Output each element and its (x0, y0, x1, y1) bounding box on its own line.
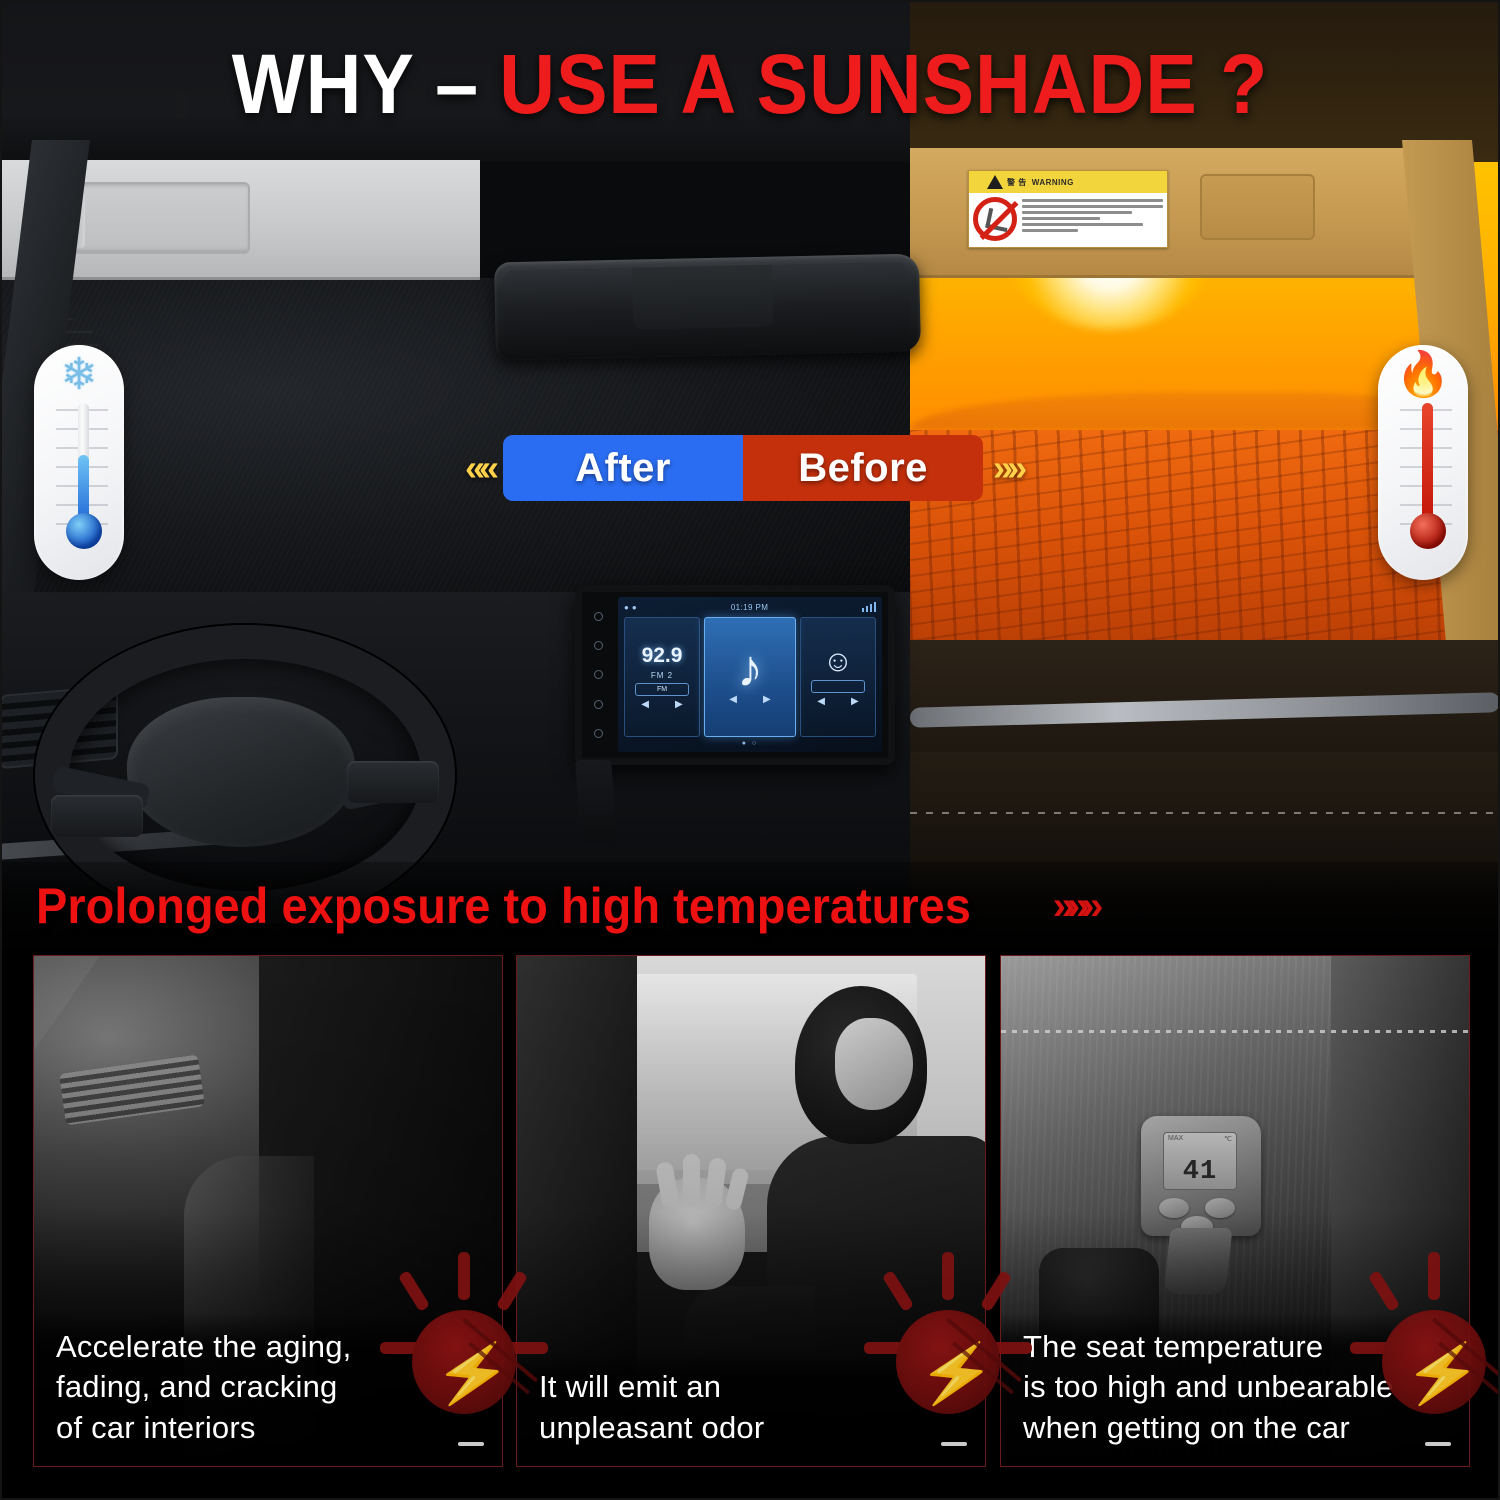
panel-caption: The seat temperature is too high and unb… (1001, 1313, 1469, 1466)
radio-frequency: 92.9 (642, 644, 683, 668)
caption-dash-icon (458, 1442, 484, 1446)
hot-thermometer: 🔥 (1378, 345, 1468, 580)
title-red-part: USE A SUNSHADE ? (499, 36, 1268, 133)
warning-triangle-icon (987, 175, 1003, 189)
caption-dash-icon (941, 1442, 967, 1446)
caption-line: is too high and unbearable (1023, 1367, 1453, 1407)
ivi-radio-card[interactable]: 92.9 FM 2 FM ◀ ▶ (624, 617, 700, 737)
panel-caption: It will emit an unpleasant odor (517, 1353, 985, 1466)
panel-caption: Accelerate the aging, fading, and cracki… (34, 1313, 502, 1466)
right-chevrons-icon: »» (983, 447, 1031, 489)
ivi-card-row: 92.9 FM 2 FM ◀ ▶ ♪ ◀ ▶ (624, 617, 876, 737)
warning-text-lines (1022, 197, 1163, 241)
visor-pocket (1200, 174, 1315, 240)
media-prev-icon[interactable]: ◀ (729, 694, 737, 705)
mirror-camera-pod (632, 265, 773, 330)
warning-cjk: 警 告 (1007, 177, 1027, 188)
hot-sun-visor: 警 告 WARNING (910, 148, 1450, 278)
ivi-side-buttons[interactable] (581, 602, 615, 748)
radio-seek-arrows[interactable]: ◀ ▶ (641, 699, 682, 710)
title-white-part: WHY (232, 36, 415, 133)
warning-label-body (969, 193, 1167, 241)
caption-line: unpleasant odor (539, 1408, 969, 1448)
music-note-icon: ♪ (737, 649, 763, 691)
snowflake-icon: ❄ (34, 353, 124, 397)
phone-next-icon[interactable]: ▶ (851, 696, 859, 707)
caption-line: Accelerate the aging, (56, 1327, 486, 1367)
ivi-mount-bracket (575, 760, 617, 842)
ivi-phone-card[interactable]: ☺ ◀ ▶ (800, 617, 876, 737)
warning-title: WARNING (1032, 178, 1074, 187)
wheel-buttons-right[interactable] (347, 761, 439, 803)
title-dash: – (415, 36, 499, 133)
seat-temperature-panel: MAX ℃ 41 The seat temperature is to (1000, 955, 1470, 1467)
caption-line: fading, and cracking (56, 1367, 486, 1407)
home-button-icon[interactable] (594, 641, 603, 650)
radio-band: FM 2 (651, 671, 673, 680)
infotainment-head-unit[interactable]: ● ● 01:19 PM 92.9 FM 2 FM ◀ ▶ (575, 585, 895, 765)
before-badge[interactable]: Before (743, 435, 983, 501)
phone-contact-pill[interactable] (811, 680, 865, 693)
person-icon: ☺ (823, 647, 854, 677)
ivi-status-left: ● ● (624, 603, 637, 612)
no-child-seat-icon (973, 197, 1017, 241)
aging-panel: Accelerate the aging, fading, and cracki… (33, 955, 503, 1467)
radio-preset-pill[interactable]: FM (635, 683, 689, 696)
subheading-chevrons-icon: »»» (1053, 884, 1096, 929)
subheading-text: Prolonged exposure to high temperatures (36, 877, 971, 935)
airbag-hub (127, 697, 355, 847)
consequences-panel-row: Accelerate the aging, fading, and cracki… (0, 950, 1500, 1500)
caption-dash-icon (1425, 1442, 1451, 1446)
before-after-toggle: «« After Before »» (455, 432, 1031, 504)
ivi-status-bar: ● ● 01:19 PM (624, 602, 876, 612)
phone-nav-arrows[interactable]: ◀ ▶ (817, 696, 858, 707)
signal-bars-icon (862, 602, 876, 612)
apps-button-icon[interactable] (594, 700, 603, 709)
visor-warning-label: 警 告 WARNING (968, 170, 1168, 248)
left-chevrons-icon: «« (455, 447, 503, 489)
visor-pocket (55, 182, 250, 254)
ivi-media-card[interactable]: ♪ ◀ ▶ (704, 617, 796, 737)
hero-before-after-split: 警 告 WARNING (0, 0, 1500, 950)
wheel-buttons-left[interactable] (51, 795, 143, 837)
warning-label-header: 警 告 WARNING (969, 171, 1167, 193)
page-indicator[interactable]: ● ○ (624, 740, 876, 747)
media-next-icon[interactable]: ▶ (763, 694, 771, 705)
child-seat-glyph (985, 208, 1011, 232)
subheading-band: Prolonged exposure to high temperatures … (0, 862, 1500, 950)
thermometer-tube (1422, 403, 1433, 527)
ivi-clock: 01:19 PM (731, 603, 768, 612)
menu-button-icon[interactable] (594, 729, 603, 738)
media-transport-controls[interactable]: ◀ ▶ (729, 694, 770, 705)
thermometer-fill (1422, 403, 1433, 527)
thermometer-bulb (1410, 513, 1446, 549)
odor-panel: It will emit an unpleasant odor (516, 955, 986, 1467)
thermometer-tube (78, 403, 89, 527)
thermometer-bulb (66, 513, 102, 549)
power-button-icon[interactable] (594, 612, 603, 621)
ivi-screen[interactable]: ● ● 01:19 PM 92.9 FM 2 FM ◀ ▶ (618, 597, 882, 752)
mirror-glass (502, 262, 911, 349)
caption-line: It will emit an (539, 1367, 969, 1407)
seek-next-icon[interactable]: ▶ (675, 699, 683, 710)
product-infographic: 警 告 WARNING (0, 0, 1500, 1500)
caption-line: of car interiors (56, 1408, 486, 1448)
after-badge[interactable]: After (503, 435, 743, 501)
dashboard-stitching (910, 812, 1500, 814)
caption-line: when getting on the car (1023, 1408, 1453, 1448)
flame-icon: 🔥 (1378, 353, 1468, 397)
cool-thermometer: ❄ (34, 345, 124, 580)
page-title: WHY – USE A SUNSHADE ? (60, 34, 1440, 134)
phone-prev-icon[interactable]: ◀ (817, 696, 825, 707)
caption-line: The seat temperature (1023, 1327, 1453, 1367)
volume-button-icon[interactable] (594, 670, 603, 679)
rear-view-mirror (494, 254, 921, 361)
seek-prev-icon[interactable]: ◀ (641, 699, 649, 710)
